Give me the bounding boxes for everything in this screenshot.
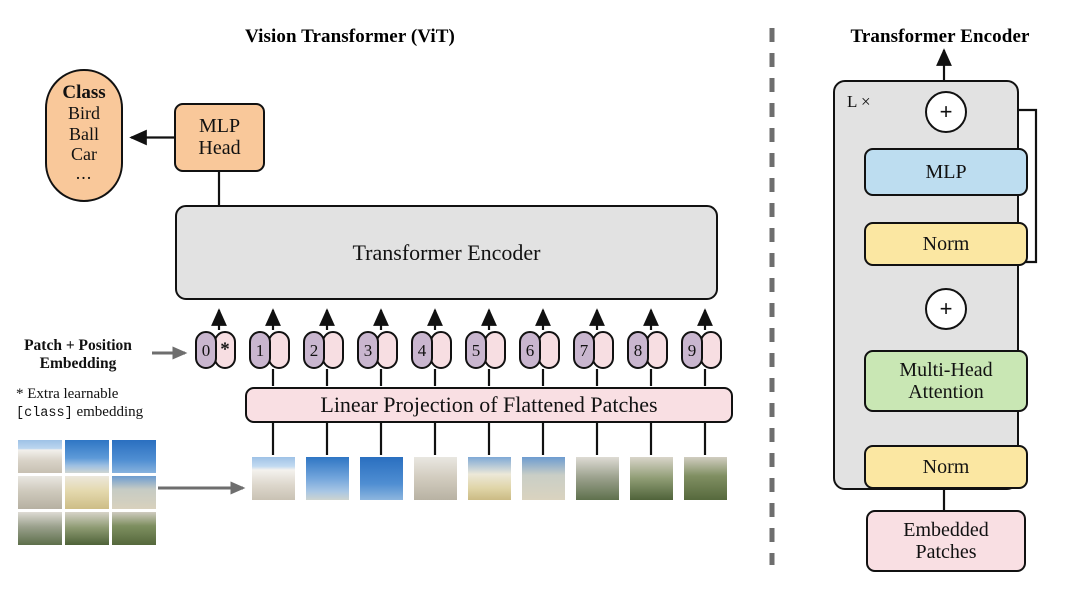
right-panel-title: Transformer Encoder (800, 26, 1080, 48)
token-4: 4 (411, 331, 452, 369)
token-1: 1 (249, 331, 290, 369)
token-3: 3 (357, 331, 398, 369)
token-6: 6 (519, 331, 560, 369)
embedded-patches-line2: Patches (915, 541, 976, 563)
token-2-position: 2 (303, 331, 325, 369)
mlp-head-box: MLP Head (174, 103, 265, 172)
repeat-count-label: L × (847, 92, 871, 112)
multi-head-attention-block: Multi-Head Attention (864, 350, 1028, 412)
token-6-position: 6 (519, 331, 541, 369)
token-6-embedding (538, 331, 560, 369)
token-1-position: 1 (249, 331, 271, 369)
patch-strip-item-9 (684, 457, 727, 500)
linear-projection-label: Linear Projection of Flattened Patches (320, 392, 657, 418)
patch-position-line1: Patch + Position (8, 337, 148, 355)
left-panel-title: Vision Transformer (ViT) (180, 26, 520, 48)
patch-strip-item-2 (306, 457, 349, 500)
class-token-star: * (220, 343, 230, 356)
class-token-mono: [class] (16, 406, 73, 421)
source-image-grid (18, 440, 156, 545)
linear-projection-box: Linear Projection of Flattened Patches (245, 387, 733, 423)
class-item-bird: Bird (68, 103, 100, 123)
patch-strip-item-3 (360, 457, 403, 500)
extra-learnable-line1: * Extra learnable (16, 385, 181, 403)
patch-position-line2: Embedding (8, 355, 148, 373)
class-ellipsis: ... (76, 164, 93, 182)
token-5-position: 5 (465, 331, 487, 369)
class-item-car: Car (71, 144, 97, 164)
source-patch-1-2 (112, 476, 156, 509)
token-5: 5 (465, 331, 506, 369)
residual-add-top: + (925, 91, 967, 133)
embedded-patches-line1: Embedded (903, 519, 989, 541)
norm-top-label: Norm (923, 233, 970, 255)
source-patch-2-2 (112, 512, 156, 545)
token-2-embedding (322, 331, 344, 369)
token-8-embedding (646, 331, 668, 369)
transformer-encoder-label: Transformer Encoder (353, 240, 541, 266)
patch-strip-item-7 (576, 457, 619, 500)
token-9: 9 (681, 331, 722, 369)
embedding-word: embedding (73, 404, 143, 420)
mlp-head-line2: Head (198, 138, 240, 160)
transformer-encoder-box: Transformer Encoder (175, 205, 718, 300)
token-3-position: 3 (357, 331, 379, 369)
source-patch-1-1 (65, 476, 109, 509)
patch-strip-item-1 (252, 457, 295, 500)
token-7-embedding (592, 331, 614, 369)
extra-learnable-note: * Extra learnable [class] embedding (16, 385, 181, 423)
patch-strip-item-6 (522, 457, 565, 500)
token-4-embedding (430, 331, 452, 369)
mha-line1: Multi-Head (899, 359, 992, 381)
patch-strip-item-5 (468, 457, 511, 500)
norm-bottom-label: Norm (923, 456, 970, 478)
encoder-block-outer (833, 80, 1019, 490)
source-patch-0-2 (112, 440, 156, 473)
plus-symbol-mid: + (940, 298, 953, 320)
mlp-block-label: MLP (925, 161, 966, 183)
residual-add-mid: + (925, 288, 967, 330)
mlp-head-line1: MLP (199, 116, 240, 138)
patch-strip-item-4 (414, 457, 457, 500)
token-0: 0 * (195, 331, 236, 369)
token-1-embedding (268, 331, 290, 369)
token-3-embedding (376, 331, 398, 369)
class-output-box: Class Bird Ball Car ... (45, 69, 123, 202)
token-9-position: 9 (681, 331, 703, 369)
token-8-position: 8 (627, 331, 649, 369)
patch-position-embedding-label: Patch + Position Embedding (8, 337, 148, 374)
patch-strip-item-8 (630, 457, 673, 500)
token-7-position: 7 (573, 331, 595, 369)
source-patch-2-1 (65, 512, 109, 545)
norm-block-bottom: Norm (864, 445, 1028, 489)
token-7: 7 (573, 331, 614, 369)
class-item-ball: Ball (69, 124, 99, 144)
token-4-position: 4 (411, 331, 433, 369)
source-patch-0-0 (18, 440, 62, 473)
token-8: 8 (627, 331, 668, 369)
plus-symbol-top: + (940, 101, 953, 123)
mlp-block: MLP (864, 148, 1028, 196)
norm-block-top: Norm (864, 222, 1028, 266)
token-2: 2 (303, 331, 344, 369)
token-9-embedding (700, 331, 722, 369)
extra-learnable-line2: [class] embedding (16, 403, 181, 422)
source-patch-2-0 (18, 512, 62, 545)
token-0-position: 0 (195, 331, 217, 369)
embedded-patches-block: Embedded Patches (866, 510, 1026, 572)
mha-line2: Attention (908, 381, 984, 403)
source-patch-0-1 (65, 440, 109, 473)
token-5-embedding (484, 331, 506, 369)
source-patch-1-0 (18, 476, 62, 509)
token-0-embedding: * (214, 331, 236, 369)
class-heading: Class (62, 82, 105, 103)
